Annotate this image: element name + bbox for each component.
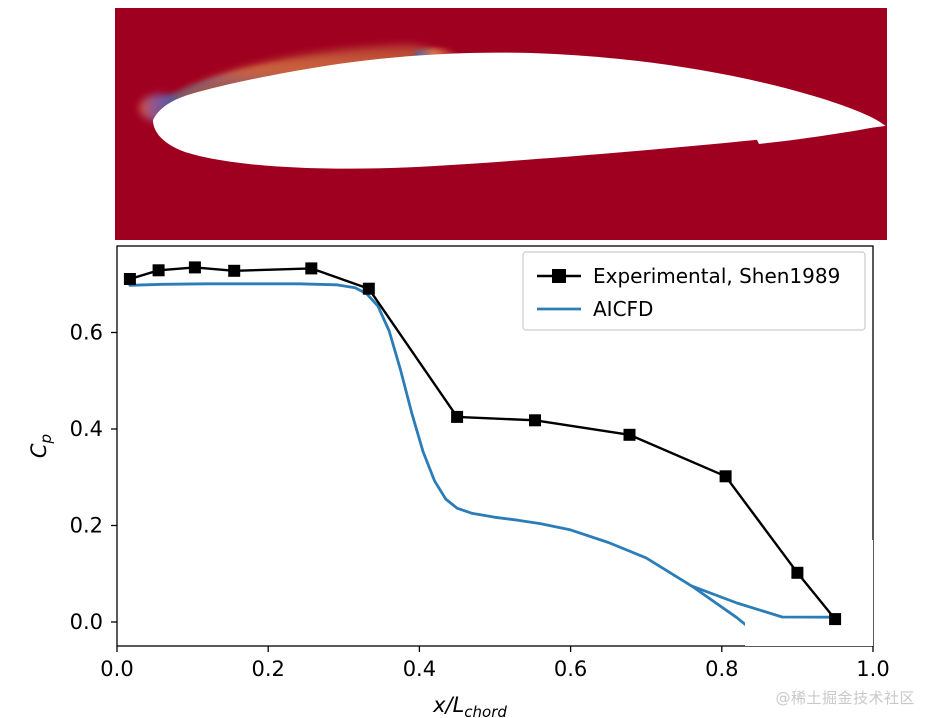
chart-svg: 0.0 0.2 0.4 0.6 0.8 1.0 0.0 0.2 0.4 0.6 … — [0, 240, 927, 718]
legend-label-aicfd: AICFD — [593, 297, 653, 321]
x-tick-label: 0.0 — [100, 657, 133, 681]
data-point-marker — [305, 262, 317, 274]
airfoil-cfd-contour-panel — [115, 8, 887, 240]
watermark-text: @稀土掘金技术社区 — [775, 687, 915, 708]
data-point-marker — [189, 261, 201, 273]
data-point-marker — [624, 429, 636, 441]
y-tick-label: 0.0 — [70, 610, 103, 634]
y-tick-label: 0.2 — [70, 514, 103, 538]
data-point-marker — [791, 567, 803, 579]
contour-svg — [115, 8, 887, 240]
x-tick-label: 0.8 — [705, 657, 738, 681]
cp-distribution-chart: 0.0 0.2 0.4 0.6 0.8 1.0 0.0 0.2 0.4 0.6 … — [0, 240, 927, 718]
x-tick-label: 1.0 — [856, 657, 889, 681]
y-axis-title: Cp — [27, 434, 55, 458]
legend-marker-square — [552, 269, 566, 283]
x-tick-labels: 0.0 0.2 0.4 0.6 0.8 1.0 — [100, 657, 889, 681]
data-point-marker — [529, 414, 541, 426]
x-axis-title-sub: chord — [464, 703, 507, 718]
data-point-marker — [363, 283, 375, 295]
x-axis-title: x/Lchord — [432, 693, 507, 718]
x-tick-label: 0.2 — [251, 657, 284, 681]
y-tick-label: 0.6 — [70, 321, 103, 345]
y-tick-label: 0.4 — [70, 417, 103, 441]
data-point-marker — [829, 613, 841, 625]
data-point-marker — [451, 411, 463, 423]
y-axis-title-main: C — [27, 443, 51, 458]
x-tick-label: 0.6 — [554, 657, 587, 681]
svg-text:Cp: Cp — [27, 434, 55, 458]
legend-label-experimental: Experimental, Shen1989 — [593, 264, 840, 288]
y-axis-title-sub: p — [37, 434, 55, 445]
chart-legend[interactable]: Experimental, Shen1989 AICFD — [523, 252, 865, 330]
x-tick-label: 0.4 — [403, 657, 436, 681]
figure-canvas: 0.0 0.2 0.4 0.6 0.8 1.0 0.0 0.2 0.4 0.6 … — [0, 0, 927, 718]
data-point-marker — [720, 470, 732, 482]
data-point-marker — [228, 265, 240, 277]
data-point-marker — [124, 273, 136, 285]
y-tick-labels: 0.0 0.2 0.4 0.6 — [70, 321, 103, 635]
data-point-marker — [153, 264, 165, 276]
svg-text:x/Lchord: x/Lchord — [432, 693, 507, 718]
x-axis-title-main: x/L — [432, 693, 464, 717]
